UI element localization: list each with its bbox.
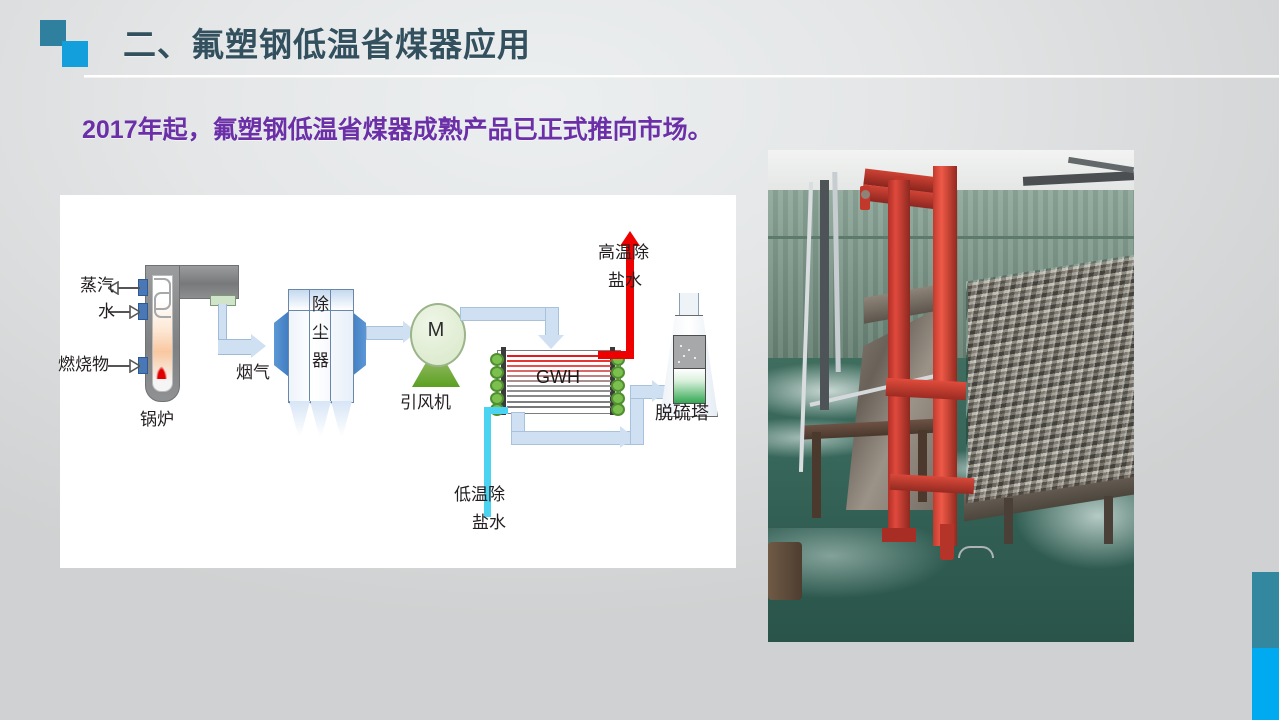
site-photo (768, 150, 1134, 642)
photo-support-leg (1104, 496, 1113, 544)
label-dust-collector-char-2: 尘 (312, 323, 329, 343)
label-induced-draft-fan: 引风机 (400, 393, 451, 413)
photo-dark-column (820, 180, 829, 410)
tower-spray-dot (678, 361, 680, 363)
label-low-temp-demin-water-line1: 低温除 (454, 485, 505, 505)
tower-spray-dot (680, 345, 682, 347)
page-title: 二、氟塑钢低温省煤器应用 (123, 18, 531, 66)
label-dust-collector-char-1: 除 (312, 295, 329, 315)
label-dust-collector-char-3: 器 (312, 351, 329, 371)
dust-collector-hopper-1 (289, 401, 310, 437)
photo-metal-handle (958, 546, 994, 558)
duct-dc-to-fan (366, 326, 406, 340)
fuel-arrow-icon (108, 359, 140, 373)
dust-collector-divider-2 (330, 289, 331, 401)
edge-accent-bottom (1252, 648, 1279, 720)
gwh-tube (507, 355, 611, 357)
decoration-square-bright (62, 41, 88, 67)
duct-gwh-outlet-horizontal (511, 431, 633, 445)
photo-flange-bore (861, 190, 870, 199)
gwh-tube (507, 401, 611, 403)
gwh-coil-end-left (490, 379, 504, 392)
gwh-tube (507, 406, 611, 408)
label-boiler: 锅炉 (140, 410, 174, 430)
photo-red-stub-pipe (940, 524, 954, 560)
gwh-tube (507, 390, 611, 392)
tower-stack (679, 293, 699, 317)
photo-support-leg (1004, 498, 1013, 544)
label-high-temp-demin-water-line1: 高温除 (598, 243, 649, 263)
photo-red-column-base (882, 528, 916, 542)
tower-upper-section (673, 335, 706, 370)
tower-spray-dot (683, 355, 685, 357)
duct-fan-to-gwh-horizontal (460, 307, 558, 321)
dust-collector-inlet-wing (274, 311, 289, 377)
boiler-tube-coil-lower (154, 292, 171, 318)
tower-spray-dot (688, 349, 690, 351)
label-water: 水 (98, 302, 115, 322)
dust-collector-hopper-2 (310, 401, 331, 437)
tower-lower-section (673, 368, 706, 404)
edge-accent-top (1252, 572, 1279, 648)
flame-icon (155, 345, 168, 379)
gwh-coil-end-left (490, 366, 504, 379)
dust-collector-divider-1 (309, 289, 310, 401)
fan-motor-label: M (410, 319, 462, 342)
gwh-coil-end-right (611, 403, 625, 416)
label-desulfurization-tower: 脱硫塔 (655, 403, 709, 424)
photo-bench-leg (812, 432, 821, 518)
label-fuel: 燃烧物 (58, 355, 109, 375)
photo-rusty-tank (768, 542, 802, 600)
tower-spray-dot (694, 357, 696, 359)
duct-gwh-inlet-arrow-icon (538, 335, 564, 349)
cold-demin-water-line-horizontal (484, 407, 508, 414)
subtitle-text: 2017年起，氟塑钢低温省煤器成熟产品已正式推向市场。 (82, 110, 713, 146)
dust-collector-hopper-3 (331, 401, 352, 437)
process-flow-diagram: 蒸汽 水 燃烧物 锅炉 烟气 除 尘 器 M 引风机 (60, 195, 736, 568)
gwh-coil-end-right (611, 379, 625, 392)
label-high-temp-demin-water-line2: 盐水 (608, 271, 642, 291)
label-flue-gas: 烟气 (236, 363, 270, 383)
gwh-coil-end-right (611, 366, 625, 379)
gwh-tube (507, 395, 611, 397)
label-steam: 蒸汽 (80, 276, 114, 296)
photo-finned-tube-bundle-texture (966, 255, 1134, 504)
gwh-label: GWH (497, 367, 619, 388)
flue-duct-arrow-icon (251, 334, 266, 358)
flue-duct-horizontal (218, 339, 252, 355)
label-low-temp-demin-water-line2: 盐水 (472, 513, 506, 533)
header-divider (84, 75, 1279, 78)
gwh-coil-end-left (490, 353, 504, 366)
gwh-tube (507, 360, 611, 362)
slide: 二、氟塑钢低温省煤器应用 2017年起，氟塑钢低温省煤器成熟产品已正式推向市场。… (0, 0, 1279, 720)
